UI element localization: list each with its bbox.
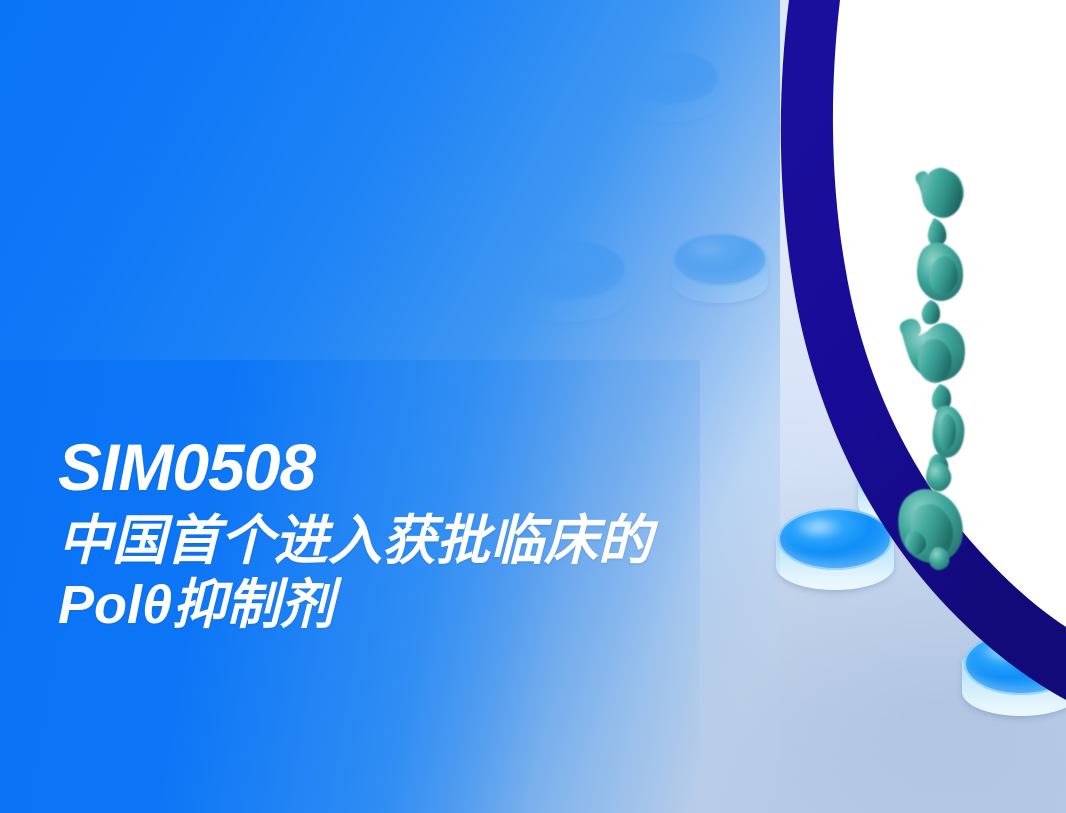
poster-canvas: SIM0508 中国首个进入获批临床的 Polθ抑制剂 — [0, 0, 1066, 813]
tablet-pill — [962, 632, 1066, 720]
headline-block: SIM0508 中国首个进入获批临床的 Polθ抑制剂 — [58, 434, 858, 637]
protein-structure — [886, 162, 1006, 574]
headline-subtitle: 中国首个进入获批临床的 Polθ抑制剂 — [58, 510, 858, 637]
product-code: SIM0508 — [58, 434, 858, 500]
headline-line-1: 中国首个进入获批临床的 — [58, 510, 858, 574]
headline-line-2: Polθ抑制剂 — [58, 574, 858, 638]
